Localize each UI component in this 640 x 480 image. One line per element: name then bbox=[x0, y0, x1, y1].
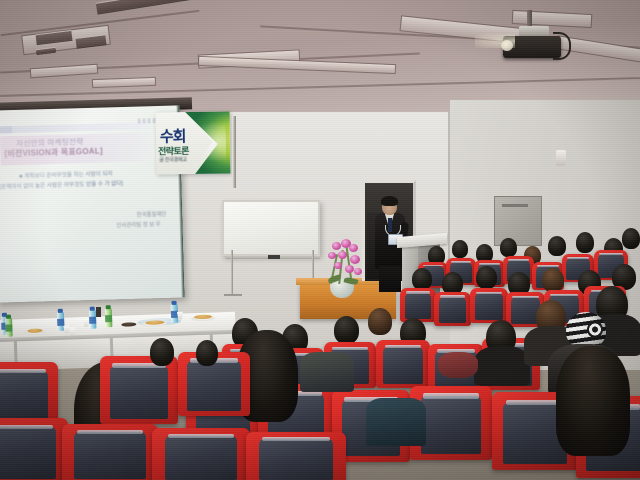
presenter-hair bbox=[381, 196, 398, 206]
banner-caption: 글 한국경제교 bbox=[159, 156, 187, 163]
banner-hanging-pole bbox=[232, 116, 236, 188]
orchid-bloom bbox=[332, 242, 341, 250]
auditorium-seat[interactable] bbox=[0, 418, 68, 480]
auditorium-seat[interactable] bbox=[470, 288, 508, 323]
audience-head bbox=[542, 268, 564, 292]
audience-head bbox=[412, 268, 432, 290]
projector-beam bbox=[475, 34, 515, 48]
whiteboard[interactable] bbox=[222, 200, 320, 256]
audience-shoulders bbox=[474, 346, 530, 386]
audience-jacket bbox=[366, 398, 426, 446]
auditorium-seat[interactable] bbox=[400, 288, 436, 322]
audience-head bbox=[500, 238, 517, 257]
auditorium-seat[interactable] bbox=[376, 340, 430, 388]
whiteboard-foot bbox=[224, 294, 242, 296]
audience-scarf bbox=[438, 352, 478, 378]
orchid-bloom bbox=[338, 251, 347, 259]
ceiling-projector bbox=[497, 26, 571, 58]
whiteboard-leg bbox=[231, 250, 233, 296]
auditorium-seat[interactable] bbox=[62, 424, 158, 480]
ceiling-light-fixture bbox=[92, 77, 156, 88]
auditorium-seat[interactable] bbox=[152, 428, 250, 480]
audience-head bbox=[368, 308, 392, 335]
whiteboard-marker[interactable] bbox=[268, 255, 280, 259]
auditorium-seat[interactable] bbox=[434, 292, 471, 326]
projector-cable bbox=[553, 32, 571, 60]
wall-seam bbox=[448, 112, 450, 262]
bottle-on-far-table bbox=[96, 307, 101, 317]
orchid-bloom bbox=[328, 252, 336, 259]
auditorium-seat[interactable] bbox=[100, 356, 178, 424]
orchid-bloom bbox=[345, 265, 354, 273]
ceiling-light-fixture bbox=[30, 64, 99, 79]
water-bottle bbox=[57, 312, 65, 331]
water-bottle bbox=[171, 304, 179, 323]
banner-graphic-highlight bbox=[182, 118, 227, 167]
wall-access-panel bbox=[494, 196, 542, 246]
water-bottle bbox=[105, 308, 113, 327]
audience-long-hair bbox=[556, 346, 630, 456]
water-bottle bbox=[5, 318, 13, 337]
audience-head bbox=[548, 236, 566, 256]
orchid-arrangement bbox=[320, 238, 366, 300]
orchid-bloom bbox=[354, 268, 362, 275]
orchid-bloom bbox=[350, 255, 360, 264]
auditorium-photo: 자신만의 마케팅전략 [비전VISION과 목표GOAL] ■ 계획보다 준비무… bbox=[0, 0, 640, 480]
audience-head bbox=[196, 340, 218, 366]
orchid-bloom bbox=[334, 262, 342, 269]
wall-bracket bbox=[556, 150, 566, 166]
striped-knit-beanie bbox=[566, 312, 606, 348]
auditorium-seat[interactable] bbox=[246, 432, 346, 480]
ceiling-speaker bbox=[36, 47, 57, 55]
audience-coat bbox=[300, 352, 354, 392]
audience-head bbox=[576, 232, 594, 253]
event-banner: 수회 전략토론 글 한국경제교 bbox=[156, 111, 231, 174]
audience-head bbox=[334, 316, 359, 344]
orchid-bloom bbox=[349, 244, 358, 252]
ceiling-light-fixture bbox=[75, 34, 106, 49]
audience-head bbox=[452, 240, 468, 258]
audience-head bbox=[476, 266, 497, 289]
audience-head bbox=[622, 228, 640, 249]
audience-head bbox=[150, 338, 174, 366]
